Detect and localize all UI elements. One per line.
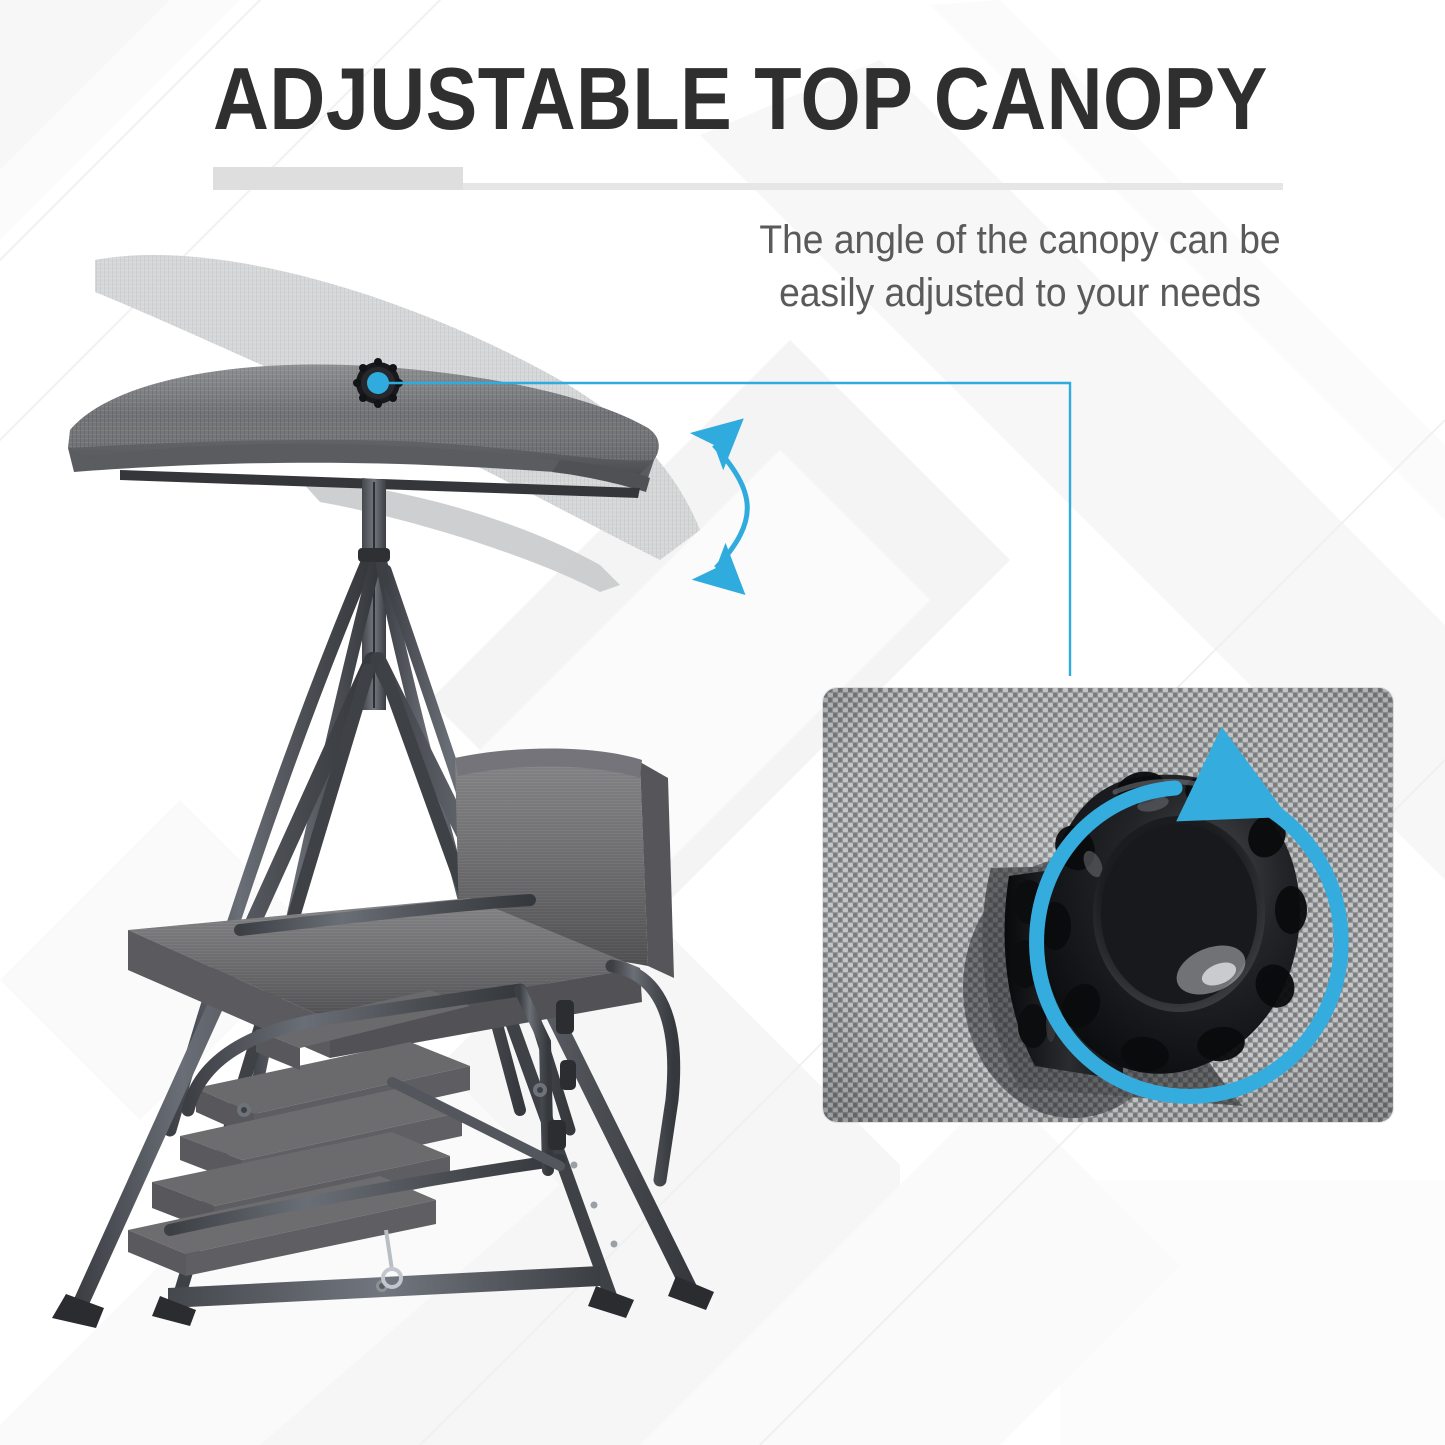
subtitle: The angle of the canopy can be easily ad… (722, 214, 1317, 320)
product-photo-swing-chair (0, 230, 820, 1350)
subtitle-line-2: easily adjusted to your needs (722, 267, 1317, 320)
header: ADJUSTABLE TOP CANOPY (0, 0, 1445, 210)
page-title: ADJUSTABLE TOP CANOPY (213, 52, 1268, 146)
divider-thin-line (463, 183, 1283, 190)
subtitle-line-1: The angle of the canopy can be (722, 214, 1317, 267)
canopy-angle-adjust-knob[interactable] (353, 358, 403, 408)
inset-detail-knob-closeup[interactable] (823, 688, 1393, 1122)
divider-thick-bar (213, 167, 463, 190)
title-divider (213, 167, 1283, 191)
